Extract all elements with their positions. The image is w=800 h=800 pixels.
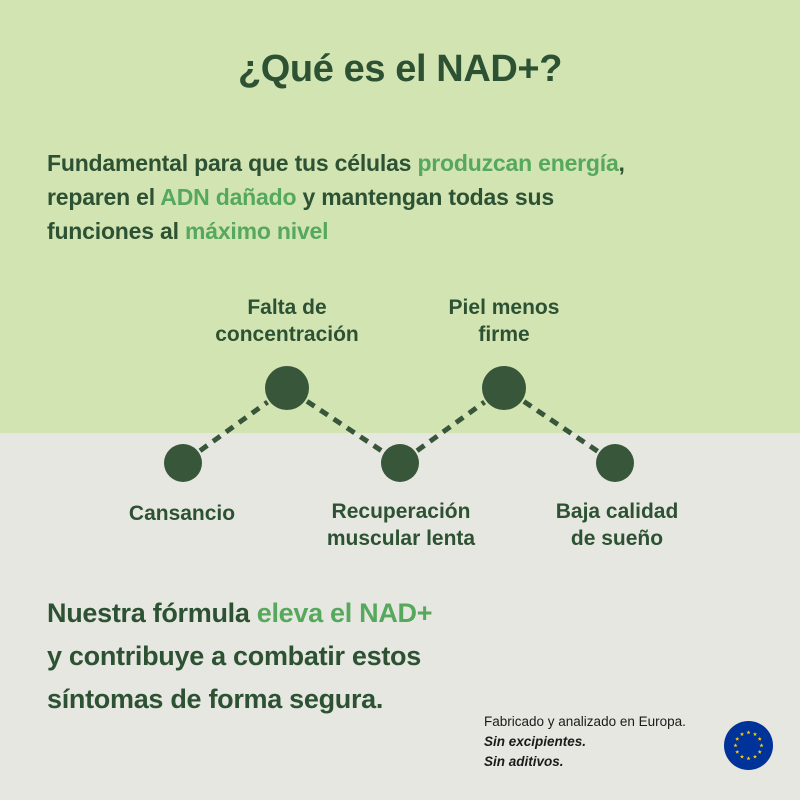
diagram-node-label-piel-menos-firme: Piel menos firme: [449, 294, 560, 348]
footer-line-no-additives: Sin aditivos.: [484, 752, 714, 772]
closing-segment-3: y contribuye a combatir estos síntomas d…: [47, 641, 421, 714]
closing-accent-eleva-el-nad: eleva el NAD+: [257, 598, 432, 628]
subtitle-segment-1: Fundamental para que tus células: [47, 150, 417, 176]
subtitle-accent-adn-danado: ADN dañado: [160, 184, 296, 210]
eu-star-icon: [746, 756, 750, 760]
eu-flag-icon: [724, 721, 773, 770]
footer-claims: Fabricado y analizado en Europa. Sin exc…: [484, 712, 714, 772]
closing-segment-1: Nuestra fórmula: [47, 598, 257, 628]
eu-star-icon: [733, 743, 737, 747]
eu-star-icon: [735, 750, 739, 754]
eu-star-icon: [758, 750, 762, 754]
footer-line-origin: Fabricado y analizado en Europa.: [484, 712, 714, 732]
eu-star-icon: [746, 730, 750, 734]
subtitle-accent-maximo-nivel: máximo nivel: [185, 218, 328, 244]
subtitle-accent-produzcan-energia: produzcan energía: [417, 150, 618, 176]
footer-line-no-excipients: Sin excipientes.: [484, 732, 714, 752]
closing-statement: Nuestra fórmula eleva el NAD+ y contribu…: [47, 592, 447, 721]
diagram-edge: [307, 401, 383, 451]
diagram-node-label-recuperacion-muscular-lenta: Recuperación muscular lenta: [327, 498, 475, 552]
diagram-node-label-baja-calidad-de-sueno: Baja calidad de sueño: [556, 498, 679, 552]
diagram-node-dot-falta-de-concentracion[interactable]: [265, 366, 309, 410]
eu-star-icon: [740, 732, 744, 736]
symptoms-diagram: CansancioFalta de concentraciónRecuperac…: [0, 280, 800, 560]
diagram-node-label-cansancio: Cansancio: [129, 500, 235, 527]
poster-canvas: ¿Qué es el NAD+? Fundamental para que tu…: [0, 0, 800, 800]
diagram-node-label-falta-de-concentracion: Falta de concentración: [215, 294, 359, 348]
diagram-edge: [417, 402, 485, 451]
diagram-node-dot-piel-menos-firme[interactable]: [482, 366, 526, 410]
diagram-node-dot-recuperacion-muscular-lenta[interactable]: [381, 444, 419, 482]
eu-star-icon: [753, 732, 757, 736]
subtitle-paragraph: Fundamental para que tus células produzc…: [47, 146, 657, 248]
eu-star-icon: [758, 737, 762, 741]
diagram-node-dot-cansancio[interactable]: [164, 444, 202, 482]
page-title: ¿Qué es el NAD+?: [0, 48, 800, 91]
diagram-edge: [200, 402, 268, 451]
eu-star-icon: [740, 755, 744, 759]
diagram-edge: [524, 401, 598, 451]
eu-star-icon: [753, 755, 757, 759]
eu-star-icon: [759, 743, 763, 747]
diagram-node-dot-baja-calidad-de-sueno[interactable]: [596, 444, 634, 482]
eu-star-icon: [735, 737, 739, 741]
